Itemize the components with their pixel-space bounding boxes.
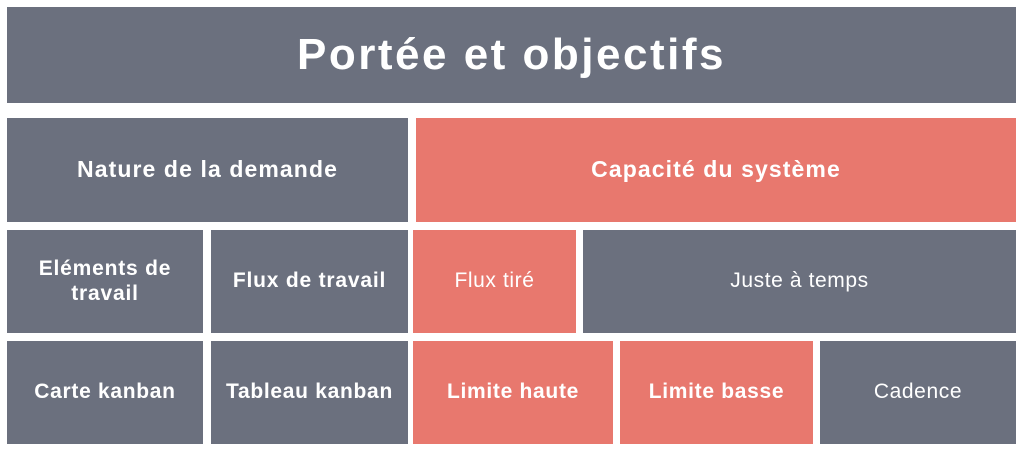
tier3-label-tableau-kanban: Tableau kanban <box>216 380 403 405</box>
tier3-label-carte-kanban: Carte kanban <box>24 380 185 405</box>
tier3-label-limite-haute: Limite haute <box>437 380 589 405</box>
tier3-cell-carte-kanban[interactable]: Carte kanban <box>7 341 203 444</box>
tier2-cell-flux-de-travail[interactable]: Flux de travail <box>211 230 408 333</box>
tier2-label-juste-a-temps: Juste à temps <box>720 269 879 294</box>
tier2-label-flux-de-travail: Flux de travail <box>223 269 396 294</box>
tier3-cell-tableau-kanban[interactable]: Tableau kanban <box>211 341 408 444</box>
tier3-cell-cadence[interactable]: Cadence <box>820 341 1016 444</box>
tier3-label-cadence: Cadence <box>864 380 972 405</box>
tier2-label-elements-de-travail: Eléments de travail <box>7 257 203 307</box>
tier2-cell-elements-de-travail[interactable]: Eléments de travail <box>7 230 203 333</box>
scope-and-objectives-diagram: Portée et objectifs Nature de la demande… <box>0 0 1024 452</box>
tier3-label-limite-basse: Limite basse <box>639 380 795 405</box>
tier2-cell-flux-tire[interactable]: Flux tiré <box>413 230 576 333</box>
tier2-cell-juste-a-temps[interactable]: Juste à temps <box>583 230 1016 333</box>
tier1-cell-nature-de-la-demande[interactable]: Nature de la demande <box>7 118 408 222</box>
tier2-label-flux-tire: Flux tiré <box>444 269 544 294</box>
diagram-title-banner: Portée et objectifs <box>7 7 1016 103</box>
tier3-cell-limite-haute[interactable]: Limite haute <box>413 341 613 444</box>
tier1-label-nature-de-la-demande: Nature de la demande <box>67 156 348 183</box>
tier1-cell-capacite-du-systeme[interactable]: Capacité du système <box>416 118 1016 222</box>
diagram-title: Portée et objectifs <box>287 29 736 81</box>
tier1-label-capacite-du-systeme: Capacité du système <box>581 156 851 183</box>
tier3-cell-limite-basse[interactable]: Limite basse <box>620 341 813 444</box>
